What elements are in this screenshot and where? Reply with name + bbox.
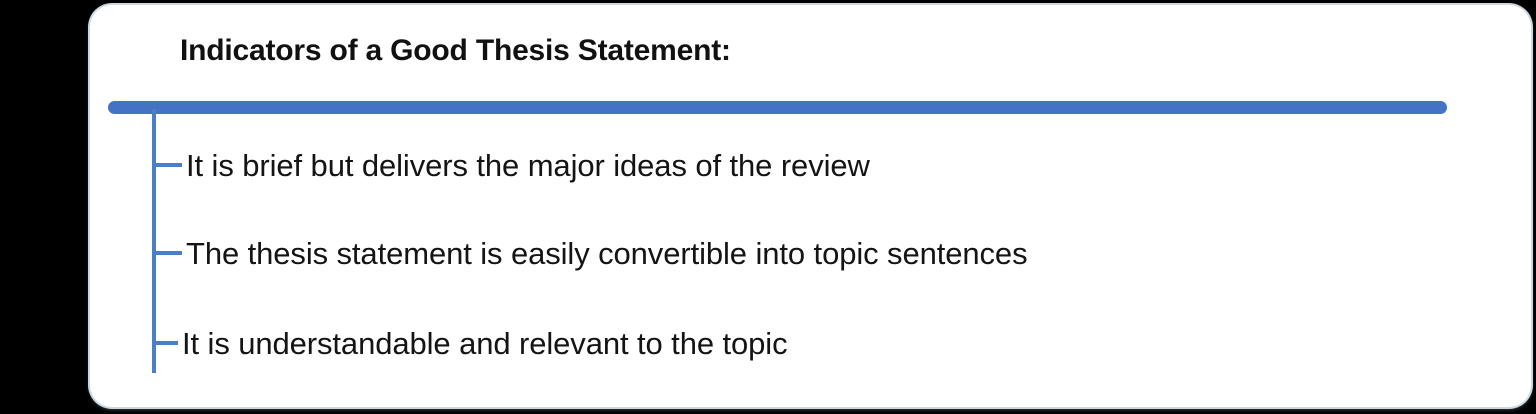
- slide-canvas: Indicators of a Good Thesis Statement: I…: [0, 0, 1536, 414]
- bullet-dash-icon: [152, 251, 182, 255]
- page-title: Indicators of a Good Thesis Statement:: [180, 34, 731, 68]
- blue-divider-bar: [108, 101, 1447, 114]
- list-item-label: It is brief but delivers the major ideas…: [182, 150, 870, 181]
- list-item-label: The thesis statement is easily convertib…: [182, 238, 1027, 269]
- bullet-dash-icon: [152, 163, 182, 167]
- list-item: It is understandable and relevant to the…: [152, 323, 787, 363]
- list-item: The thesis statement is easily convertib…: [152, 233, 1027, 273]
- content-card: Indicators of a Good Thesis Statement: I…: [90, 5, 1531, 407]
- list-item: It is brief but delivers the major ideas…: [152, 145, 870, 185]
- bullet-dash-icon: [152, 341, 178, 345]
- list-item-label: It is understandable and relevant to the…: [178, 328, 787, 359]
